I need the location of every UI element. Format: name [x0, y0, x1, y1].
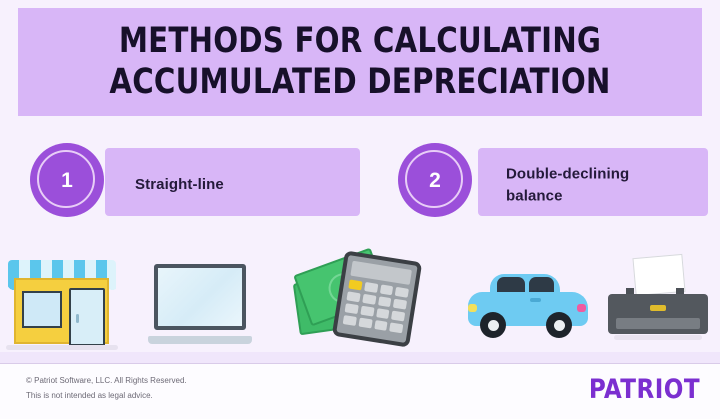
window-shape — [22, 291, 62, 328]
printer-icon — [608, 256, 708, 340]
calculator-key — [374, 320, 388, 331]
storefront-icon — [6, 252, 118, 350]
laptop-base-shape — [148, 336, 252, 344]
car-wheel-shape — [546, 312, 572, 338]
patriot-logo: PATRIOT — [589, 376, 700, 403]
calculator-keys — [343, 279, 409, 333]
car-handle-shape — [530, 298, 541, 302]
car-icon — [468, 268, 588, 338]
ground-shadow — [6, 345, 118, 350]
badge-number: 1 — [61, 170, 73, 191]
method-number-badge: 1 — [30, 143, 104, 217]
page-title: Methods for Calculating Accumulated Depr… — [72, 21, 649, 102]
car-wheel-shape — [480, 312, 506, 338]
calculator-key — [362, 294, 376, 305]
calculator-key — [379, 284, 393, 295]
calculator-key — [360, 306, 374, 317]
method-item-straight-line: 1 Straight-line — [30, 140, 360, 230]
calculator-key — [378, 296, 392, 307]
car-taillight-shape — [577, 304, 586, 312]
method-number-badge: 2 — [398, 143, 472, 217]
title-banner: Methods for Calculating Accumulated Depr… — [18, 8, 702, 116]
method-item-double-declining-balance: 2 Double-declining balance — [398, 140, 708, 230]
calculator-key — [393, 299, 407, 310]
calculator-key — [358, 318, 372, 329]
car-headlight-shape — [468, 304, 477, 312]
illustration-strip — [0, 236, 720, 354]
calculator-shape — [332, 250, 422, 347]
footer-band — [0, 352, 720, 363]
cash-and-calculator-icon — [294, 248, 434, 348]
infographic-canvas: Methods for Calculating Accumulated Depr… — [0, 0, 720, 419]
calculator-key — [391, 311, 405, 322]
door-shape — [69, 288, 105, 346]
badge-number: 2 — [429, 170, 441, 191]
method-label: Double-declining balance — [506, 163, 686, 207]
printer-indicator-shape — [650, 305, 666, 311]
calculator-key — [348, 279, 362, 290]
footer-legal-text: © Patriot Software, LLC. All Rights Rese… — [26, 374, 187, 404]
calculator-key — [389, 322, 403, 333]
methods-list: 1 Straight-line 2 Double-declining balan… — [0, 140, 720, 230]
calculator-key — [395, 287, 409, 298]
footer: © Patriot Software, LLC. All Rights Rese… — [0, 364, 720, 419]
printer-tray-shape — [616, 318, 700, 329]
method-label: Straight-line — [135, 174, 365, 196]
copyright-text: © Patriot Software, LLC. All Rights Rese… — [26, 374, 187, 389]
calculator-key — [345, 303, 359, 314]
calculator-key — [343, 315, 357, 326]
laptop-screen-shape — [154, 264, 246, 330]
calculator-key — [364, 282, 378, 293]
calculator-key — [346, 291, 360, 302]
ground-shadow — [614, 335, 702, 340]
laptop-icon — [148, 264, 252, 344]
disclaimer-text: This is not intended as legal advice. — [26, 389, 187, 404]
calculator-key — [376, 308, 390, 319]
